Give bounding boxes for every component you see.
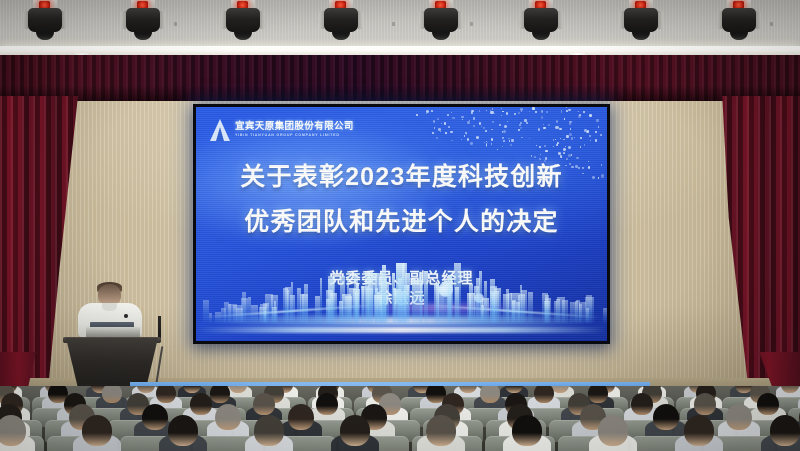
stage-light-5 [418,0,464,40]
ceiling-fixture-dot [392,22,395,26]
seated-audience [0,386,800,451]
ceiling-light-strip [0,46,800,55]
audience-member-head [426,415,456,446]
audience-member-head [210,386,230,403]
speaker-collar [102,303,117,311]
audience-member-head [694,393,716,416]
light-lens-icon [730,29,748,40]
audience-member-head [653,404,679,431]
audience-member-head [684,415,714,446]
audience-member-head [631,393,653,416]
stage-light-7 [618,0,664,40]
light-lens-icon [134,29,152,40]
stage-light-6 [518,0,564,40]
audience-member-head [0,415,26,446]
light-lens-icon [332,29,350,40]
ceiling-fixture-dot [174,22,177,26]
speaker-badge-icon [124,314,128,318]
led-presentation-screen: 宜宾天原集团股份有限公司 YIBIN TIANYUAN GROUP COMPAN… [196,107,607,341]
audience-member-head [156,386,176,403]
audience-member-head [770,415,800,446]
audience-member-head [190,393,212,416]
light-lens-icon [532,29,550,40]
light-lens-icon [632,29,650,40]
light-lens-icon [234,29,252,40]
audience-member-head [480,386,500,403]
stage-light-4 [318,0,364,40]
ceiling-fixture-dot [770,22,773,26]
screen-scanlines [196,107,607,341]
audience-member-head [534,386,554,403]
stage-light-2 [120,0,166,40]
light-lens-icon [36,29,54,40]
conference-hall-scene: 宜宾天原集团股份有限公司 YIBIN TIANYUAN GROUP COMPAN… [0,0,800,451]
audience-member-head [215,404,241,431]
audience-member-head [288,404,314,431]
audience-member-head [757,393,779,416]
audience-member-head [254,415,284,446]
audience-member-head [340,415,370,446]
stage-light-1 [22,0,68,40]
audience-member-head [142,404,168,431]
audience-member-head [598,415,628,446]
podium-and-speaker [46,280,176,392]
audience-member-head [102,386,122,403]
curtain-valance [0,55,800,101]
stage-light-3 [220,0,266,40]
audience-member-head [82,415,112,446]
valance-bottom-shadow [0,85,800,101]
audience-member-head [316,393,338,416]
audience-member-head [588,386,608,403]
light-lens-icon [432,29,450,40]
audience-member-head [253,393,275,416]
audience-member-head [168,415,198,446]
ceiling-fixture-dot [470,22,473,26]
audience-member-head [726,404,752,431]
stage-light-8 [716,0,762,40]
audience-member-head [512,415,542,446]
led-screen-frame: 宜宾天原集团股份有限公司 YIBIN TIANYUAN GROUP COMPAN… [193,104,610,344]
